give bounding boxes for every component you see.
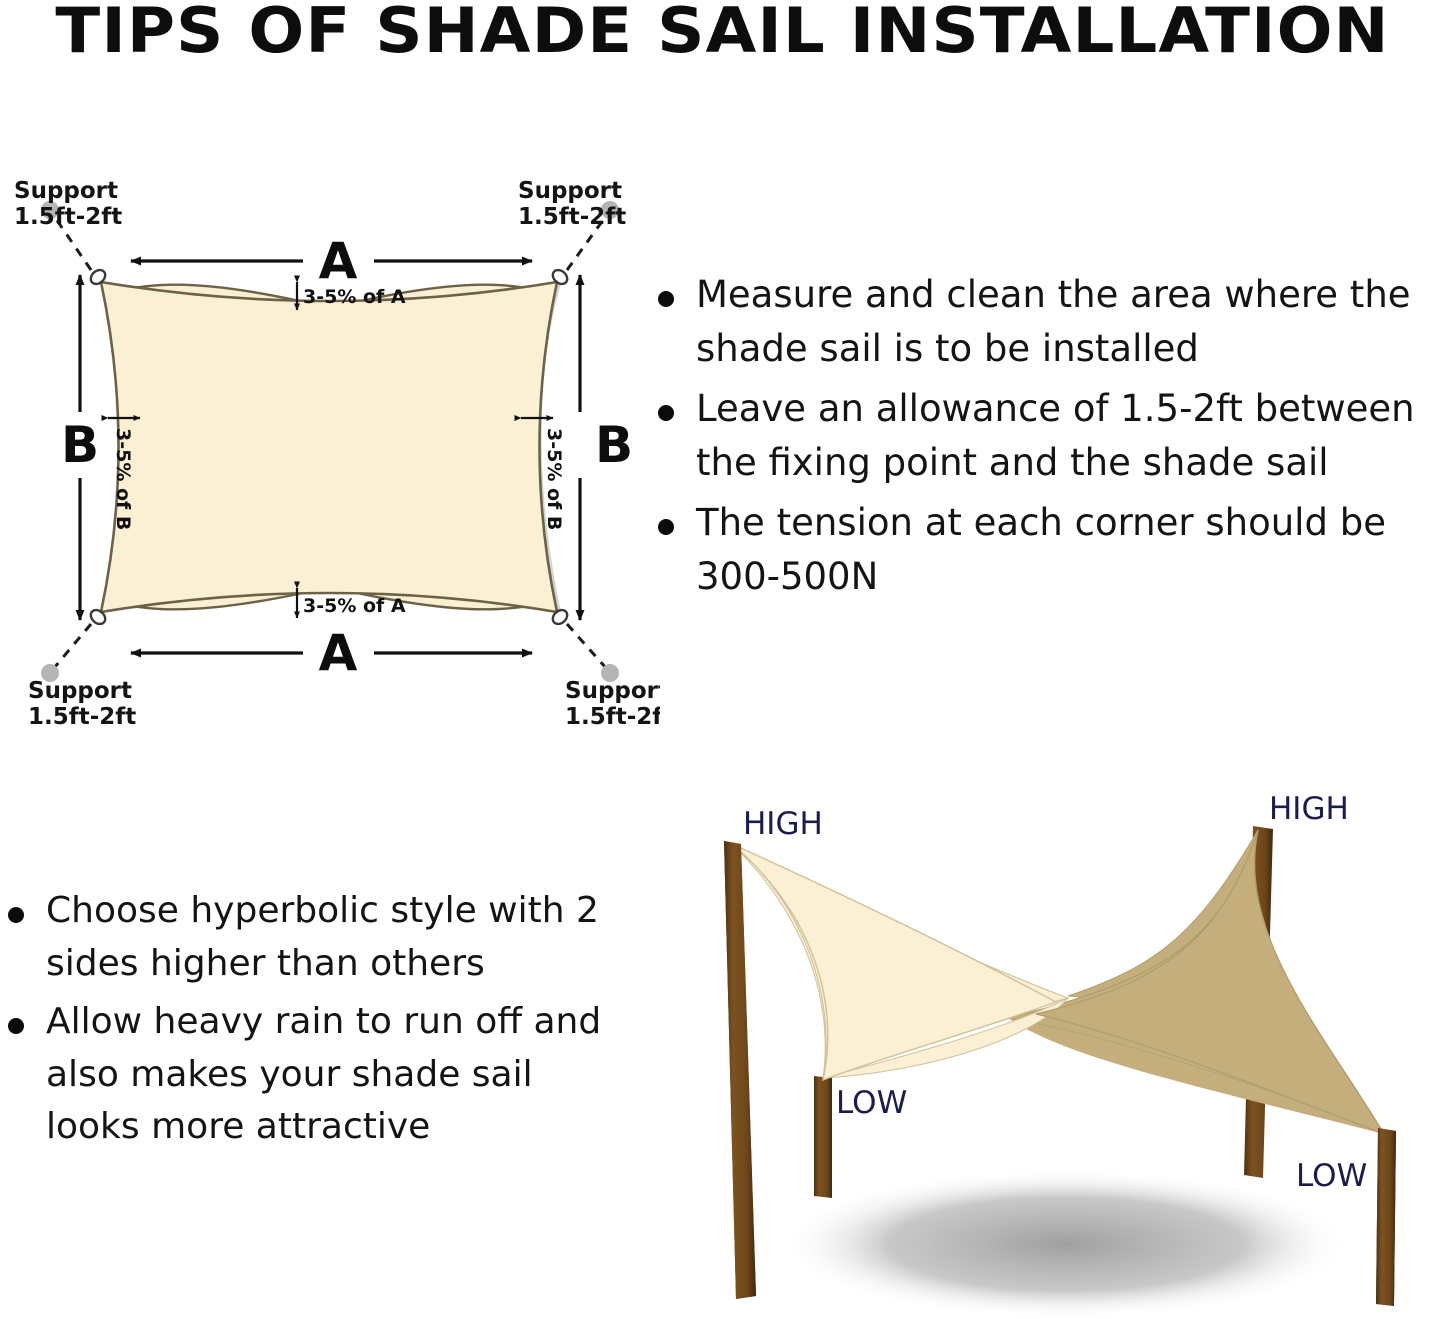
support-label-top-left-line1: Support <box>14 178 118 204</box>
support-label-top-right-line2: 1.5ft-2ft <box>518 204 626 230</box>
list-item: The tension at each corner should be 300… <box>642 496 1445 604</box>
dim-a-top-label: A <box>319 232 358 290</box>
tolerance-b-right-label: 3-5% of B <box>543 428 565 530</box>
support-label-top-left-line2: 1.5ft-2ft <box>14 204 122 230</box>
pole-low-left <box>814 1076 832 1198</box>
label-low-left: LOW <box>836 1085 907 1121</box>
list-item-text: Measure and clean the area where the sha… <box>696 273 1411 370</box>
ground-shadow <box>791 1172 1341 1316</box>
tolerance-a-top-label: 3-5% of A <box>303 286 406 308</box>
support-label-top-right-line1: Support <box>518 178 622 204</box>
list-item: Leave an allowance of 1.5-2ft between th… <box>642 382 1445 490</box>
label-high-right: HIGH <box>1269 791 1349 827</box>
list-item: Choose hyperbolic style with 2 sides hig… <box>0 885 620 990</box>
dim-b-left-label: B <box>61 416 99 474</box>
bullet-dot-icon <box>658 405 674 421</box>
bullet-dot-icon <box>658 519 674 535</box>
tips-list-right: Measure and clean the area where the sha… <box>642 268 1445 610</box>
support-label-bottom-right-line2: 1.5ft-2ft <box>565 704 660 730</box>
tolerance-a-bottom-label: 3-5% of A <box>303 595 406 617</box>
sail-half-light-over <box>732 844 1056 1080</box>
list-item-text: The tension at each corner should be 300… <box>696 501 1386 598</box>
list-item-text: Leave an allowance of 1.5-2ft between th… <box>696 387 1415 484</box>
rect-sail-diagram: A 3-5% of A A 3-5% of A B <box>0 160 660 730</box>
bullet-dot-icon <box>8 1018 24 1034</box>
sail-shape-outline <box>101 282 557 612</box>
list-item: Measure and clean the area where the sha… <box>642 268 1445 376</box>
pole-low-right-front <box>1376 1128 1396 1306</box>
page-title: TIPS OF SHADE SAIL INSTALLATION <box>0 0 1445 67</box>
support-label-bottom-left-line2: 1.5ft-2ft <box>28 704 136 730</box>
bullet-dot-icon <box>8 907 24 923</box>
infographic-page: TIPS OF SHADE SAIL INSTALLATION <box>0 0 1445 1319</box>
tolerance-b-left-label: 3-5% of B <box>112 428 134 530</box>
support-label-bottom-left-line1: Support <box>28 678 132 704</box>
pole-high-left-front <box>724 841 756 1299</box>
label-low-right: LOW <box>1296 1158 1367 1194</box>
dim-a-bottom-label: A <box>319 624 358 682</box>
tips-list-left: Choose hyperbolic style with 2 sides hig… <box>0 885 620 1160</box>
hyperbolic-sail-diagram: HIGH HIGH LOW LOW <box>636 786 1445 1319</box>
list-item: Allow heavy rain to run off and also mak… <box>0 996 620 1154</box>
label-high-left: HIGH <box>743 806 823 842</box>
list-item-text: Allow heavy rain to run off and also mak… <box>46 1001 601 1147</box>
list-item-text: Choose hyperbolic style with 2 sides hig… <box>46 890 599 984</box>
bullet-dot-icon <box>658 291 674 307</box>
support-label-bottom-right-line1: Support <box>565 678 660 704</box>
dim-b-right-label: B <box>595 416 633 474</box>
